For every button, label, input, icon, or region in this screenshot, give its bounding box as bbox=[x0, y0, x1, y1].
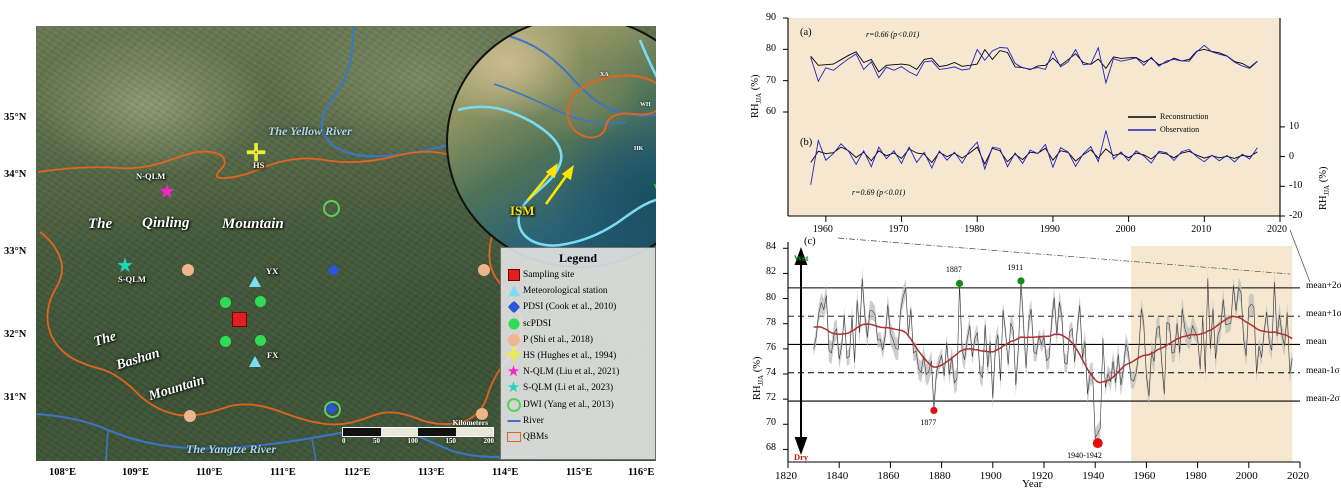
legend-label: S-QLM (Li et al., 2023) bbox=[523, 383, 613, 393]
marker-sampling-site[interactable] bbox=[232, 312, 247, 327]
marker-scpdsi-4[interactable] bbox=[255, 335, 266, 346]
ism-label: ISM bbox=[510, 203, 535, 219]
inset-city-label-wh: WH bbox=[640, 102, 651, 108]
lon-tick-108: 108°E bbox=[49, 467, 76, 478]
regional-inset-globe[interactable]: XA WH HK ISM EASM bbox=[446, 26, 656, 268]
lon-tick-110: 110°E bbox=[196, 467, 222, 478]
site-label-sqlm: S-QLM bbox=[118, 274, 146, 284]
river-branch bbox=[312, 438, 316, 461]
inset-vector-overlay bbox=[448, 26, 656, 266]
zoom-connector-right bbox=[1290, 230, 1310, 282]
cyan-star-icon: ★ bbox=[505, 381, 522, 395]
site-label-nqlm: N-QLM bbox=[136, 171, 165, 181]
marker-scpdsi-3[interactable] bbox=[220, 336, 231, 347]
panel-a-correlation-annotation: r=0.66 (p<0.01) bbox=[866, 30, 919, 39]
place-label-mountain1: Mountain bbox=[222, 216, 284, 233]
lon-tick-112: 112°E bbox=[344, 467, 370, 478]
map-legend[interactable]: Legend Sampling site Meteorological stat… bbox=[500, 247, 656, 460]
lon-tick-109: 109°E bbox=[122, 467, 149, 478]
lon-tick-114: 114°E bbox=[492, 467, 518, 478]
site-label-hs: HS bbox=[253, 160, 264, 170]
legend-item-river[interactable]: River bbox=[505, 413, 651, 429]
wet-label: Wet bbox=[794, 253, 809, 263]
marker-nqlm-liu[interactable]: ★ bbox=[158, 186, 176, 198]
legend-label: DWI (Yang et al., 2013) bbox=[523, 400, 614, 410]
timeseries-figure: (a) r=0.66 (p<0.01) (b) r=0.69 (p<0.01) … bbox=[670, 0, 1341, 497]
legend-item-pdsi[interactable]: PDSI (Cook et al., 2010) bbox=[505, 299, 651, 315]
map-scalebar: Kilometers 0 50 100 150 200 bbox=[342, 418, 494, 445]
scalebar-tick-50: 50 bbox=[373, 437, 380, 445]
legend-label: Meteorological station bbox=[523, 286, 608, 296]
marker-scpdsi-2[interactable] bbox=[255, 296, 266, 307]
site-label-yx: YX bbox=[266, 266, 278, 276]
legend-label: Sampling site bbox=[523, 270, 574, 280]
panel-b-correlation-annotation: r=0.69 (p<0.01) bbox=[852, 188, 905, 197]
ism-arrow-group bbox=[528, 166, 572, 204]
lon-tick-116: 116°E bbox=[628, 467, 654, 478]
marker-hs-hughes[interactable]: ✛ bbox=[246, 148, 266, 160]
lon-tick-111: 111°E bbox=[270, 467, 296, 478]
scalebar-unit-label: Kilometers bbox=[342, 418, 488, 427]
scalebar-tick-200: 200 bbox=[484, 437, 495, 445]
marker-precip-shi-3[interactable] bbox=[184, 410, 196, 422]
dry-label: Dry bbox=[794, 452, 808, 462]
marker-met-station-fx[interactable] bbox=[249, 356, 261, 367]
yellow-plus-icon: ✛ bbox=[505, 349, 522, 363]
wet-dry-arrow bbox=[796, 250, 806, 452]
legend-label: scPDSI bbox=[523, 319, 551, 329]
site-label-fx: FX bbox=[267, 350, 278, 360]
legend-label-reconstruction: Reconstruction bbox=[1160, 112, 1208, 121]
inset-city-label-xa: XA bbox=[600, 72, 609, 78]
legend-label: P (Shi et al., 2018) bbox=[523, 335, 593, 345]
scalebar-tick-0: 0 bbox=[342, 437, 346, 445]
blue-diamond-icon bbox=[505, 300, 522, 314]
marker-precip-shi-2[interactable] bbox=[478, 264, 490, 276]
scalebar-tick-100: 100 bbox=[408, 437, 419, 445]
legend-item-met-station[interactable]: Meteorological station bbox=[505, 283, 651, 299]
legend-item-hs[interactable]: ✛ HS (Hughes et al., 1994) bbox=[505, 348, 651, 364]
legend-title: Legend bbox=[505, 251, 651, 266]
legend-label: N-QLM (Liu et al., 2021) bbox=[523, 367, 619, 377]
study-area-map-figure: XA WH HK ISM EASM The Qinling Mountain T… bbox=[0, 0, 670, 497]
marker-dwi-yang-1[interactable] bbox=[323, 200, 340, 217]
panel-a-label: (a) bbox=[800, 27, 812, 38]
panel-c-label: (c) bbox=[804, 236, 816, 247]
legend-label: PDSI (Cook et al., 2010) bbox=[523, 302, 616, 312]
marker-precip-shi-1[interactable] bbox=[182, 264, 194, 276]
lon-tick-115: 115°E bbox=[566, 467, 592, 478]
legend-label: River bbox=[523, 416, 544, 426]
green-circle-icon bbox=[505, 317, 522, 331]
river-label-yangtze: The Yangtze River bbox=[186, 442, 276, 457]
river-label-yellow: The Yellow River bbox=[268, 124, 352, 139]
inset-yangtze-river bbox=[494, 84, 626, 124]
china-coast-path bbox=[458, 107, 656, 246]
legend-label: QBMs bbox=[523, 432, 548, 442]
red-square-icon bbox=[505, 268, 522, 282]
marker-scpdsi-1[interactable] bbox=[220, 297, 231, 308]
place-label-the1: The bbox=[88, 216, 112, 233]
legend-item-dwi[interactable]: DWI (Yang et al., 2013) bbox=[505, 397, 651, 413]
panel-c-extreme-event-markers bbox=[930, 277, 1102, 448]
green-ring-icon bbox=[505, 398, 522, 412]
blue-line-icon bbox=[505, 414, 522, 428]
legend-item-sampling-site[interactable]: Sampling site bbox=[505, 267, 651, 283]
legend-item-scpdsi[interactable]: scPDSI bbox=[505, 316, 651, 332]
legend-item-nqlm[interactable]: ★ N-QLM (Liu et al., 2021) bbox=[505, 364, 651, 380]
legend-item-sqlm[interactable]: ★ S-QLM (Li et al., 2023) bbox=[505, 380, 651, 396]
magenta-star-icon: ★ bbox=[505, 365, 522, 379]
panel-ab-canvas[interactable] bbox=[670, 0, 1341, 240]
river-branch bbox=[106, 430, 108, 461]
orange-rect-icon bbox=[505, 430, 522, 444]
panel-c-y-axis-label: RHJJA (%) bbox=[752, 357, 765, 400]
east-coast-path bbox=[640, 40, 656, 194]
scalebar-tick-150: 150 bbox=[446, 437, 457, 445]
scalebar-ticks: 0 50 100 150 200 bbox=[342, 437, 494, 445]
scalebar-bar bbox=[342, 427, 494, 437]
inset-city-label-hk: HK bbox=[634, 146, 643, 152]
marker-sqlm-li[interactable]: ★ bbox=[116, 260, 134, 272]
panel-a-y-axis-label: RHJJA (%) bbox=[750, 75, 763, 118]
place-label-qinling: Qinling bbox=[142, 215, 190, 232]
cyan-triangle-icon bbox=[505, 284, 522, 298]
panel-b-label: (b) bbox=[800, 137, 812, 148]
legend-item-qbms[interactable]: QBMs bbox=[505, 429, 651, 445]
marker-met-station-yx[interactable] bbox=[249, 276, 261, 287]
legend-item-precipitation[interactable]: P (Shi et al., 2018) bbox=[505, 332, 651, 348]
legend-label-observation: Observation bbox=[1160, 125, 1199, 134]
legend-label: HS (Hughes et al., 1994) bbox=[523, 351, 616, 361]
lon-tick-113: 113°E bbox=[418, 467, 444, 478]
panel-b-y-axis-label: RHJJA (%) bbox=[1318, 167, 1331, 210]
